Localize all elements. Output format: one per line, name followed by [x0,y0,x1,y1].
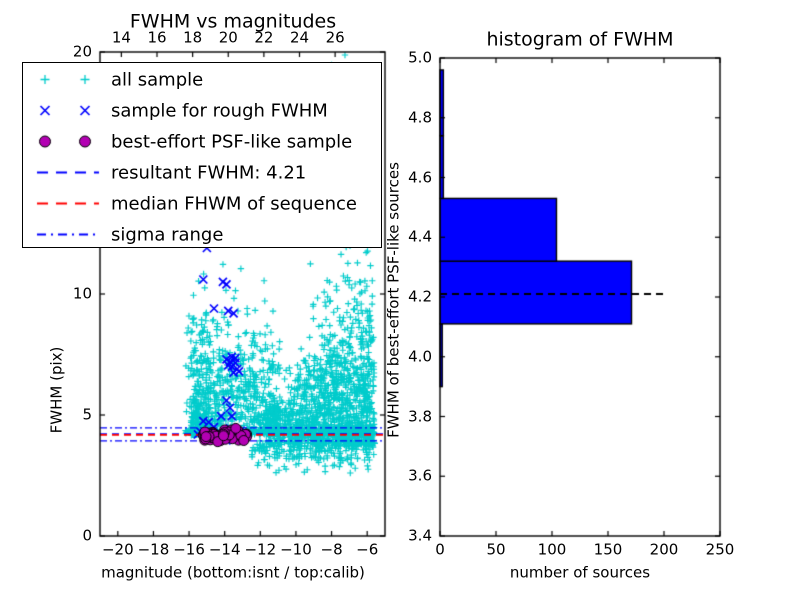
legend-marker-filled-circle-icon [29,126,105,157]
scatter-toptick-1: 16 [147,31,166,46]
legend-label-psf-sample: best-effort PSF-like sample [111,131,352,152]
scatter-xlabel: magnitude (bottom:isnt / top:calib) [101,566,365,581]
histogram-xtick-0: 0 [435,543,445,558]
legend-marker-dashed-line-icon-red [29,188,105,219]
histogram-xtick-5: 250 [706,543,735,558]
histogram-ytick-7: 4.8 [408,110,432,125]
scatter-xtick-4: −12 [244,543,276,558]
legend-item-rough-fwhm: sample for rough FWHM [23,95,381,126]
legend-marker-dashdot-line-icon [29,219,105,250]
figure-root: FWHM vs magnitudes magnitude (bottom:isn… [0,0,800,600]
histogram-ytick-8: 5.0 [408,51,432,66]
histogram-ytick-6: 4.6 [408,170,432,185]
histogram-xtick-3: 150 [594,543,623,558]
histogram-ylabel: FWHM of best-effort PSF-like sources [387,162,402,438]
legend-box: all sample sample for rough FWHM best-ef… [22,62,382,248]
legend-label-sigma-range: sigma range [111,224,223,245]
legend-label-all-sample: all sample [111,69,203,90]
histogram-ytick-2: 3.8 [408,409,432,424]
scatter-toptick-0: 14 [112,31,131,46]
histogram-ytick-3: 4.0 [408,349,432,364]
legend-marker-cross-icon [29,95,105,126]
scatter-ytick-3: 20 [73,45,92,60]
legend-label-resultant-fwhm: resultant FWHM: 4.21 [111,162,306,183]
scatter-ytick-2: 10 [73,287,92,302]
scatter-xtick-0: −20 [102,543,134,558]
legend-item-all-sample: all sample [23,64,381,95]
scatter-xtick-6: −8 [321,543,343,558]
histogram-xtick-1: 50 [486,543,505,558]
scatter-toptick-5: 24 [290,31,309,46]
histogram-ytick-4: 4.2 [408,290,432,305]
scatter-xtick-3: −14 [209,543,241,558]
scatter-toptick-6: 26 [326,31,345,46]
histogram-title: histogram of FWHM [486,31,673,50]
histogram-xlabel: number of sources [510,566,650,581]
histogram-ytick-1: 3.6 [408,469,432,484]
legend-marker-dashed-line-icon-blue [29,157,105,188]
legend-label-median-fhwm: median FHWM of sequence [111,193,357,214]
scatter-toptick-4: 22 [254,31,273,46]
legend-item-psf-sample: best-effort PSF-like sample [23,126,381,157]
scatter-xtick-5: −10 [280,543,312,558]
scatter-toptick-2: 18 [183,31,202,46]
scatter-ylabel: FWHM (pix) [50,347,65,434]
histogram-ytick-5: 4.4 [408,230,432,245]
scatter-toptick-3: 20 [219,31,238,46]
legend-item-resultant-fwhm: resultant FWHM: 4.21 [23,157,381,188]
legend-item-median-fhwm: median FHWM of sequence [23,188,381,219]
histogram-ytick-0: 3.4 [408,529,432,544]
legend-item-sigma-range: sigma range [23,219,381,250]
legend-label-rough-fwhm: sample for rough FWHM [111,100,328,121]
scatter-ytick-1: 5 [82,408,92,423]
legend-marker-plus-icon [29,64,105,95]
histogram-xtick-4: 200 [650,543,679,558]
scatter-xtick-2: −16 [173,543,205,558]
scatter-xtick-1: −18 [138,543,170,558]
scatter-ytick-0: 0 [82,529,92,544]
histogram-xtick-2: 100 [538,543,567,558]
scatter-xtick-7: −6 [356,543,378,558]
